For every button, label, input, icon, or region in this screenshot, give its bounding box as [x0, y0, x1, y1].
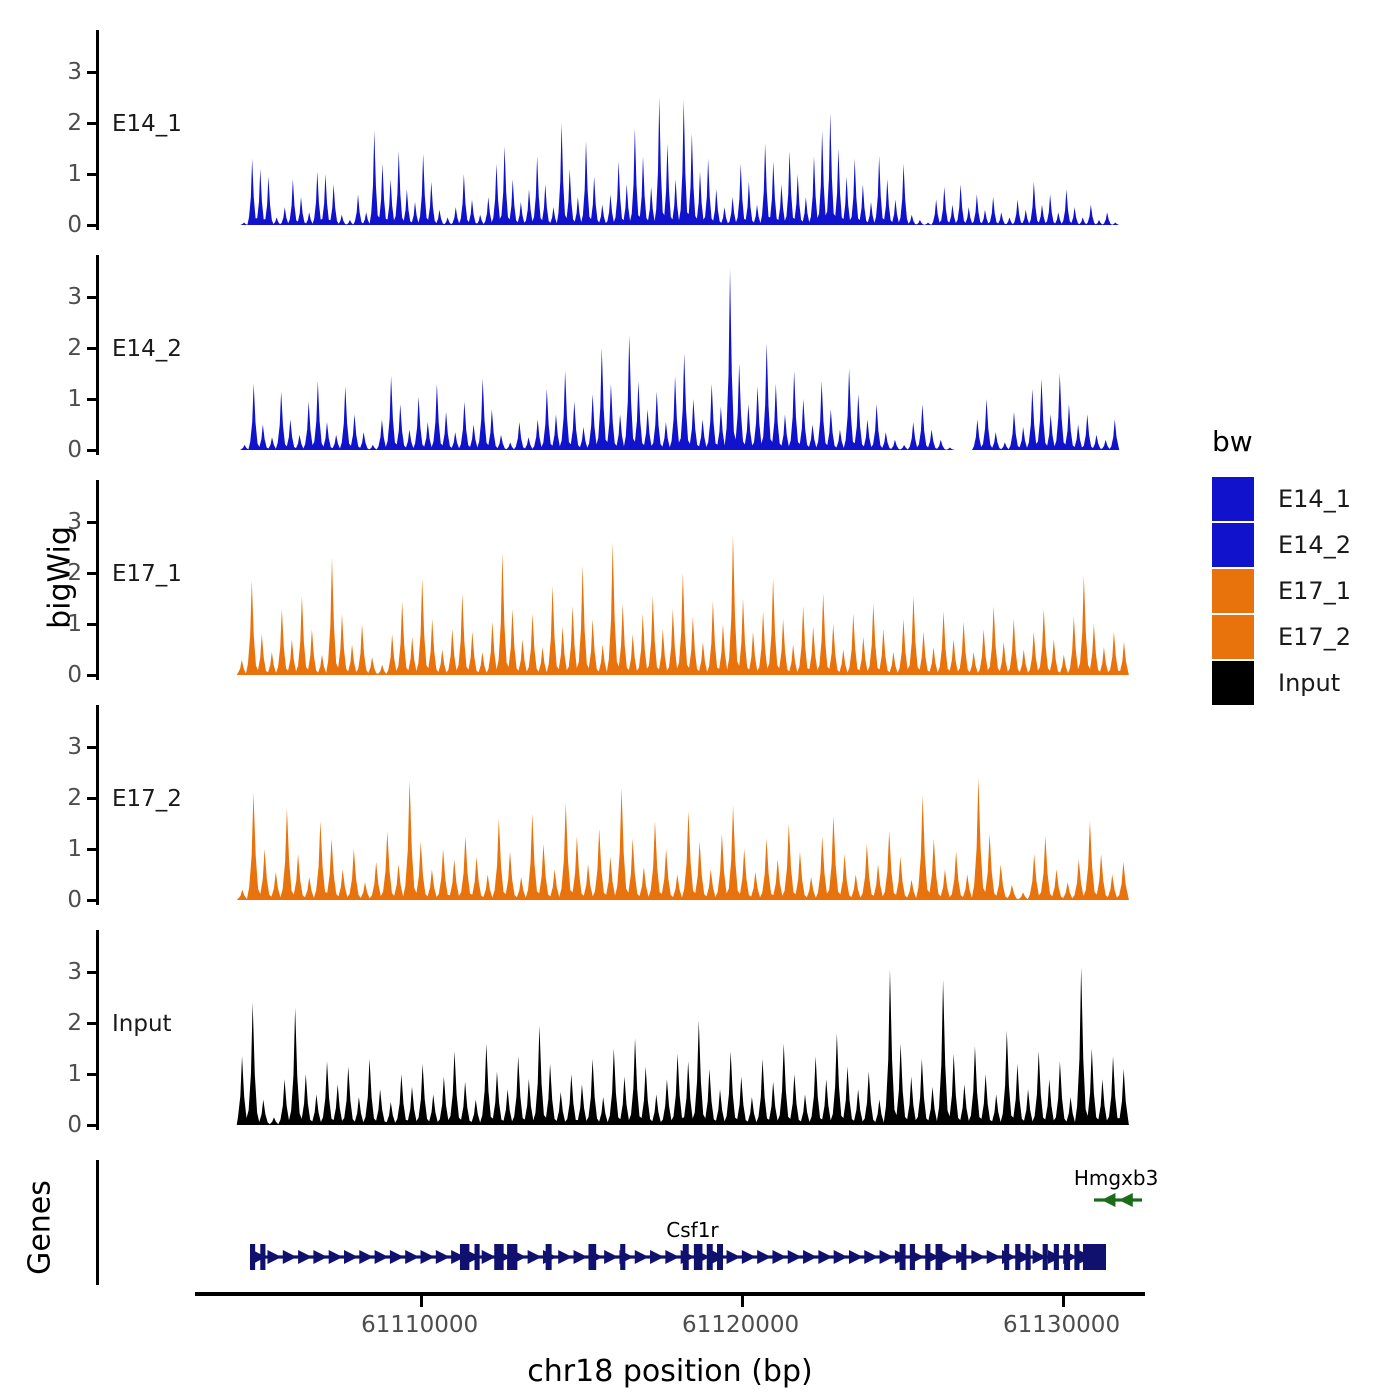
y-tick-label: 2 [67, 1010, 96, 1036]
legend-item-e14_2[interactable]: E14_2 [1212, 522, 1351, 568]
track-panel-e14_1: 0123E14_1 [96, 30, 1150, 230]
x-axis-line [195, 1292, 1145, 1296]
track-panel-e17_2: 0123E17_2 [96, 705, 1150, 905]
legend-label: Input [1278, 669, 1340, 697]
x-tick [1062, 1296, 1065, 1307]
track-panel-e14_2: 0123E14_2 [96, 255, 1150, 455]
legend-item-input[interactable]: Input [1212, 660, 1351, 706]
y-tick-label: 0 [67, 212, 96, 238]
signal-area-e17_1 [96, 480, 1150, 679]
legend-item-e14_1[interactable]: E14_1 [1212, 476, 1351, 522]
y-tick-label: 1 [67, 386, 96, 412]
x-tick-label: 61110000 [361, 1312, 478, 1338]
legend-swatch [1212, 569, 1254, 613]
legend-swatch [1212, 523, 1254, 567]
gene-label-csf1r: Csf1r [666, 1218, 718, 1242]
legend-swatch [1212, 615, 1254, 659]
y-tick-label: 2 [67, 110, 96, 136]
legend-label: E17_2 [1278, 623, 1351, 651]
y-tick-label: 2 [67, 785, 96, 811]
x-tick-label: 61130000 [1003, 1312, 1120, 1338]
y-tick-label: 3 [67, 59, 96, 85]
legend-title: bw [1212, 425, 1351, 458]
y-tick-label: 3 [67, 509, 96, 535]
gene-label-hmgxb3: Hmgxb3 [1074, 1166, 1158, 1190]
legend-item-e17_2[interactable]: E17_2 [1212, 614, 1351, 660]
y-tick-label: 0 [67, 662, 96, 688]
y-tick-label: 1 [67, 611, 96, 637]
y-tick-label: 3 [67, 734, 96, 760]
x-tick [420, 1296, 423, 1307]
track-panel-input: 0123Input [96, 930, 1150, 1130]
y-tick-label: 2 [67, 560, 96, 586]
x-tick-label: 61120000 [682, 1312, 799, 1338]
legend-item-e17_1[interactable]: E17_1 [1212, 568, 1351, 614]
y-tick-label: 1 [67, 161, 96, 187]
track-panel-e17_1: 0123E17_1 [96, 480, 1150, 680]
y-tick-label: 3 [67, 959, 96, 985]
y-tick-label: 1 [67, 1061, 96, 1087]
genes-axis-title: Genes [23, 1128, 58, 1328]
genome-browser-figure: bigWig Genes 0123E14_10123E14_20123E17_1… [0, 0, 1400, 1400]
legend-swatch [1212, 661, 1254, 705]
genes-track: Csf1rHmgxb3 [96, 1160, 1150, 1285]
y-tick-label: 0 [67, 1112, 96, 1138]
signal-area-e17_2 [96, 705, 1150, 904]
signal-area-input [96, 930, 1150, 1129]
y-tick-label: 1 [67, 836, 96, 862]
gene-csf1r[interactable] [250, 1244, 1107, 1270]
gene-hmgxb3[interactable] [1094, 1192, 1142, 1208]
x-axis-title: chr18 position (bp) [527, 1354, 812, 1389]
y-tick-label: 3 [67, 284, 96, 310]
y-tick-label: 0 [67, 437, 96, 463]
signal-area-e14_2 [96, 255, 1150, 454]
legend-swatch [1212, 477, 1254, 521]
legend-label: E14_2 [1278, 531, 1351, 559]
signal-area-e14_1 [96, 30, 1150, 229]
legend-label: E17_1 [1278, 577, 1351, 605]
y-tick-label: 2 [67, 335, 96, 361]
legend-label: E14_1 [1278, 485, 1351, 513]
y-tick-label: 0 [67, 887, 96, 913]
legend: bw E14_1E14_2E17_1E17_2Input [1212, 425, 1351, 706]
x-tick [741, 1296, 744, 1307]
